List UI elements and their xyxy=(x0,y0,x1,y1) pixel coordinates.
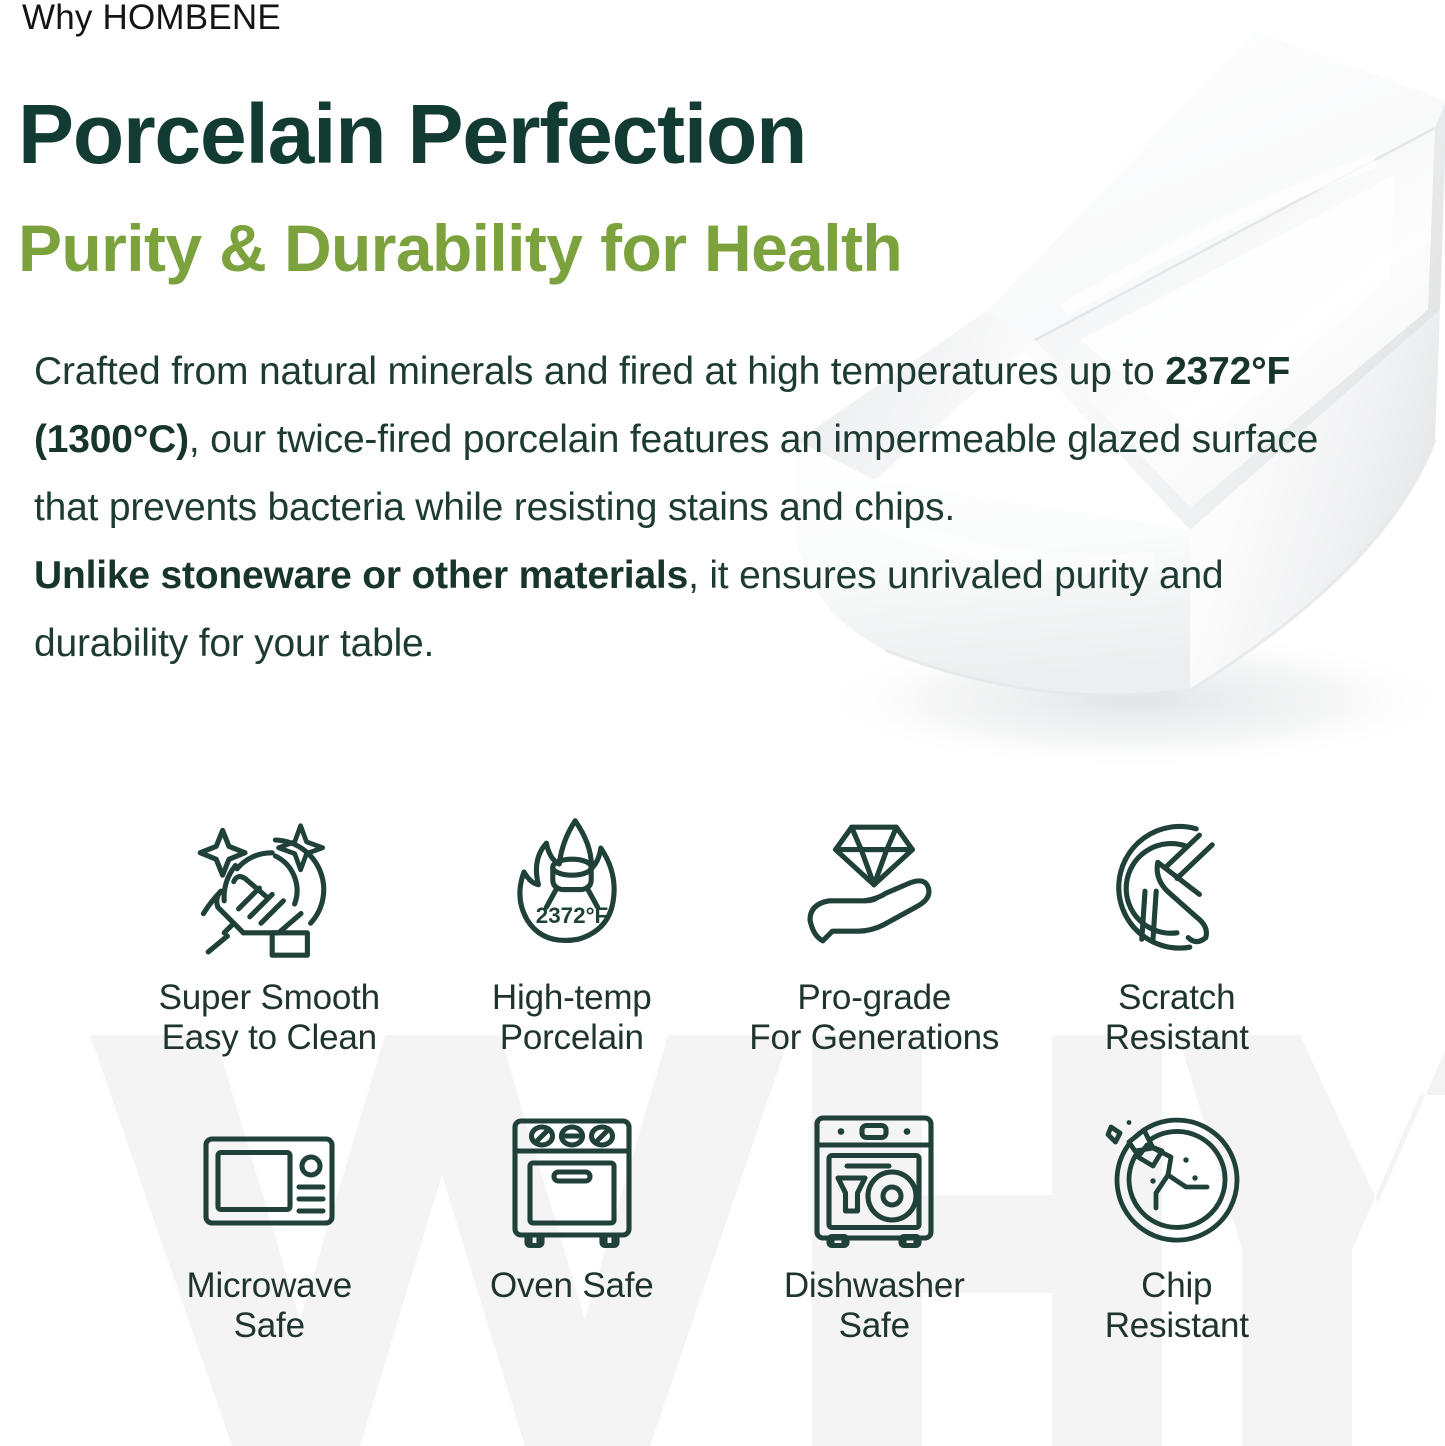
flame-temp-badge: 2372°F xyxy=(536,903,608,928)
body-copy: Crafted from natural minerals and fired … xyxy=(34,338,1374,678)
dishwasher-icon xyxy=(799,1106,949,1256)
feature-label: High-temp Porcelain xyxy=(492,978,652,1058)
comparison-highlight: Unlike stoneware or other materials xyxy=(34,554,688,597)
paragraph-1: Crafted from natural minerals and fired … xyxy=(34,350,1318,529)
feature-label: Super Smooth Easy to Clean xyxy=(159,978,380,1058)
flame-temperature-icon: 2372°F xyxy=(492,808,652,968)
microwave-icon xyxy=(194,1106,344,1256)
feature-label: Dishwasher Safe xyxy=(784,1266,965,1346)
feature-label: Chip Resistant xyxy=(1105,1266,1249,1346)
feature-microwave-safe: Microwave Safe xyxy=(118,1106,421,1346)
feature-chip-resistant: Chip Resistant xyxy=(1026,1106,1329,1346)
feature-high-temp: 2372°F High-temp Porcelain xyxy=(421,808,724,1058)
feature-oven-safe: Oven Safe xyxy=(421,1106,724,1346)
feature-icon-grid: Super Smooth Easy to Clean 2372°F High-t… xyxy=(118,808,1328,1346)
para1-lead: Crafted from natural minerals and fired … xyxy=(34,350,1165,393)
page-subtitle: Purity & Durability for Health xyxy=(18,215,902,281)
feature-label: Pro-grade For Generations xyxy=(749,978,999,1058)
chipped-plate-icon xyxy=(1102,1106,1252,1256)
knife-on-plate-icon xyxy=(1097,808,1257,968)
diamond-in-hand-icon xyxy=(794,808,954,968)
page-title: Porcelain Perfection xyxy=(18,92,806,176)
feature-dishwasher-safe: Dishwasher Safe xyxy=(723,1106,1026,1346)
polish-hand-sparkle-icon xyxy=(189,808,349,968)
feature-scratch-resistant: Scratch Resistant xyxy=(1026,808,1329,1058)
oven-icon xyxy=(497,1106,647,1256)
feature-super-smooth: Super Smooth Easy to Clean xyxy=(118,808,421,1058)
eyebrow-brand-label: Why HOMBENE xyxy=(22,0,281,38)
feature-pro-grade: Pro-grade For Generations xyxy=(723,808,1026,1058)
para1-tail: , our twice-fired porcelain features an … xyxy=(34,418,1318,529)
feature-label: Scratch Resistant xyxy=(1105,978,1249,1058)
feature-label: Microwave Safe xyxy=(187,1266,352,1346)
paragraph-2: Unlike stoneware or other materials, it … xyxy=(34,542,1374,678)
feature-label: Oven Safe xyxy=(490,1266,654,1306)
infographic-page: Why HOMBENE Porcelain Perfection Purity … xyxy=(0,0,1445,1446)
